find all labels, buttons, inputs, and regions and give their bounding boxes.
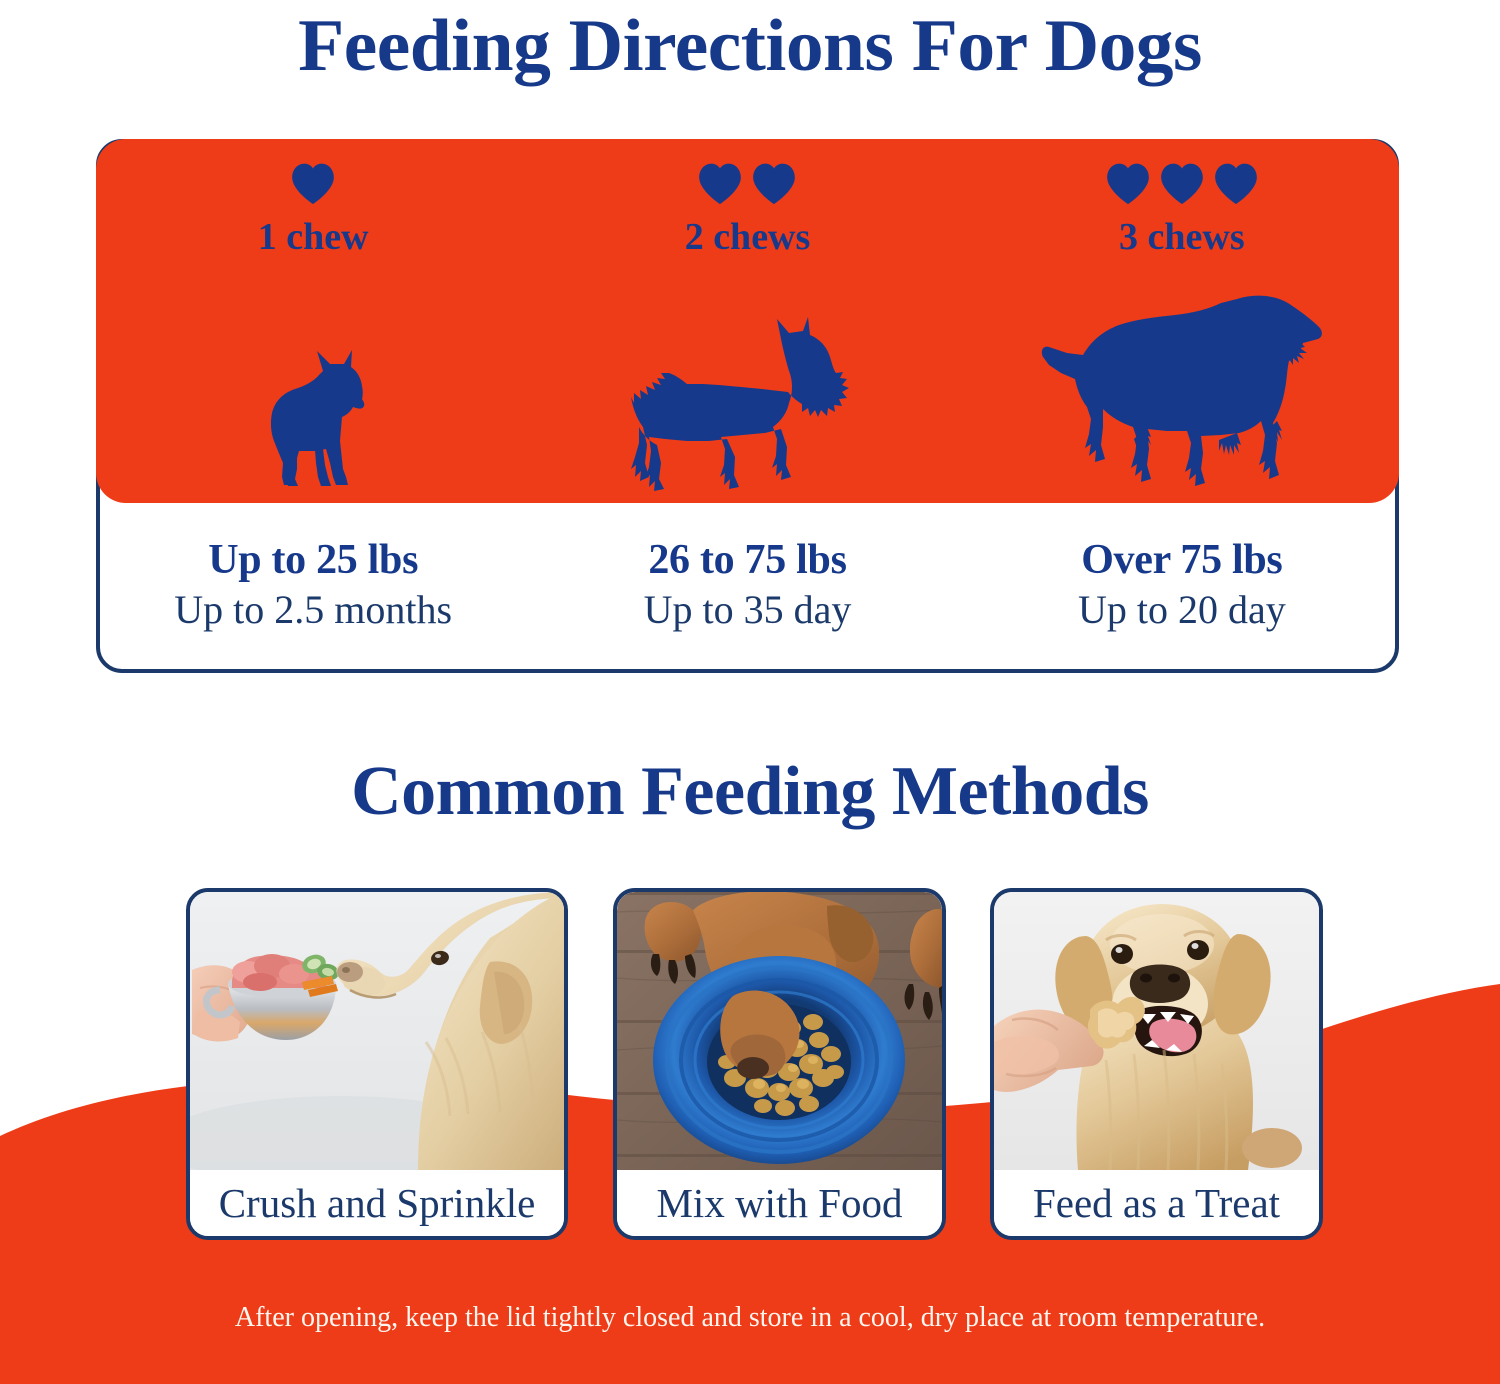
heart-icon xyxy=(1213,161,1259,207)
heart-group-3 xyxy=(1105,161,1259,209)
heart-icon xyxy=(1159,161,1205,207)
method-label-crush-and-sprinkle: Crush and Sprinkle xyxy=(190,1170,564,1236)
feeding-directions-card: 1 chew xyxy=(96,139,1399,673)
method-card-mix-with-food: Mix with Food xyxy=(613,888,946,1240)
duration-label-1: Up to 2.5 months xyxy=(96,585,530,635)
heart-group-1 xyxy=(290,161,336,209)
feeding-methods-row: Crush and Sprinkle xyxy=(0,888,1500,1240)
large-dog-wrap xyxy=(965,293,1399,495)
feeding-bottom-medium: 26 to 75 lbs Up to 35 day xyxy=(530,537,964,635)
storage-note: After opening, keep the lid tightly clos… xyxy=(0,1302,1500,1334)
medium-dog-wrap xyxy=(530,317,964,495)
method-card-feed-as-a-treat: Feed as a Treat xyxy=(990,888,1323,1240)
feeding-bottom-small: Up to 25 lbs Up to 2.5 months xyxy=(96,537,530,635)
dog-sniffing-food-bowl-photo xyxy=(190,892,564,1170)
heart-icon xyxy=(1105,161,1151,207)
chew-label-2: 2 chews xyxy=(685,215,811,259)
small-dog-silhouette xyxy=(251,345,375,495)
chew-label-3: 3 chews xyxy=(1119,215,1245,259)
page-title: Feeding Directions For Dogs xyxy=(0,4,1500,89)
feeding-column-large: 3 chews xyxy=(965,139,1399,503)
heart-group-2 xyxy=(697,161,797,209)
duration-label-2: Up to 35 day xyxy=(530,585,964,635)
dog-eating-kibble-bowl-photo xyxy=(617,892,942,1170)
section-title-common-feeding-methods: Common Feeding Methods xyxy=(0,752,1500,832)
feeding-bottom-large: Over 75 lbs Up to 20 day xyxy=(965,537,1399,635)
chew-label-1: 1 chew xyxy=(258,215,369,259)
feeding-directions-infographic: Feeding Directions For Dogs 1 chew xyxy=(0,0,1500,1384)
feeding-card-top-columns: 1 chew xyxy=(96,139,1399,503)
method-label-feed-as-a-treat: Feed as a Treat xyxy=(994,1170,1319,1236)
hand-feeding-dog-treat-photo xyxy=(994,892,1319,1170)
weight-label-2: 26 to 75 lbs xyxy=(530,537,964,583)
heart-icon xyxy=(697,161,743,207)
feeding-card-bottom-row: Up to 25 lbs Up to 2.5 months 26 to 75 l… xyxy=(96,503,1399,669)
heart-icon xyxy=(290,161,336,207)
method-label-mix-with-food: Mix with Food xyxy=(617,1170,942,1236)
weight-label-1: Up to 25 lbs xyxy=(96,537,530,583)
weight-label-3: Over 75 lbs xyxy=(965,537,1399,583)
large-dog-silhouette xyxy=(1041,293,1323,495)
duration-label-3: Up to 20 day xyxy=(965,585,1399,635)
heart-icon xyxy=(751,161,797,207)
medium-dog-silhouette xyxy=(631,317,863,495)
method-card-crush-and-sprinkle: Crush and Sprinkle xyxy=(186,888,568,1240)
feeding-column-small: 1 chew xyxy=(96,139,530,503)
small-dog-wrap xyxy=(96,345,530,495)
feeding-column-medium: 2 chews xyxy=(530,139,964,503)
